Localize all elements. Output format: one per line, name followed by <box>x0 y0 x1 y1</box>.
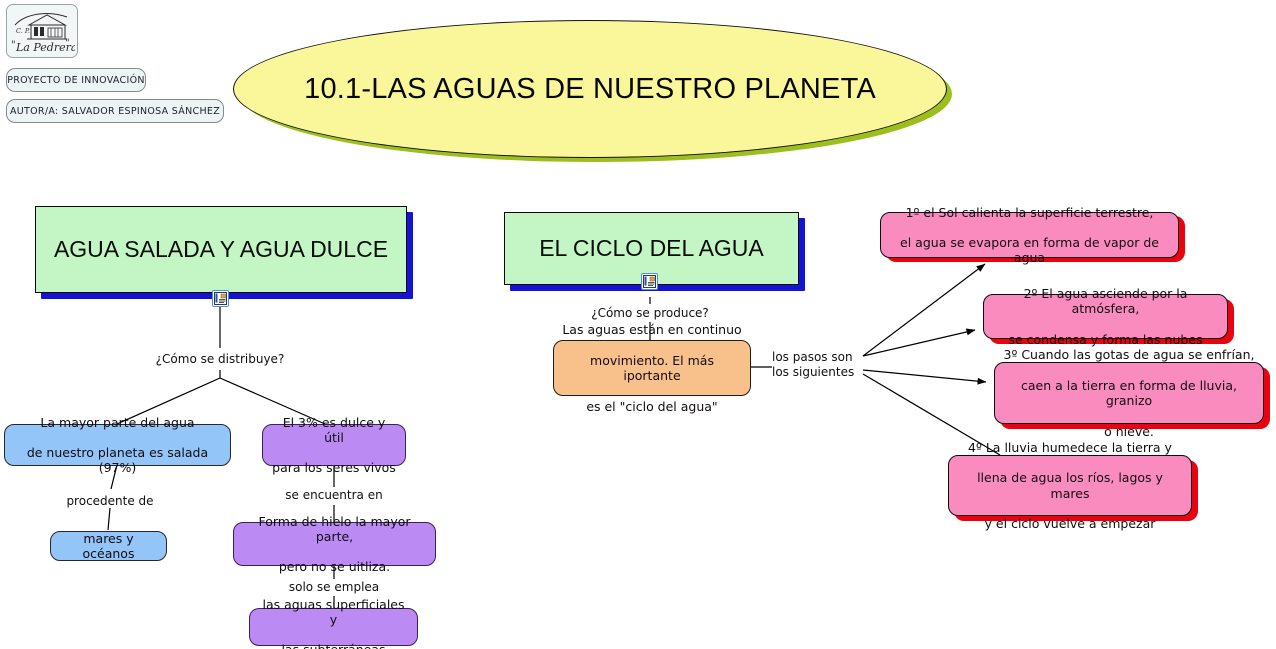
node-agua-salada-y-dulce-label: AGUA SALADA Y AGUA DULCE <box>54 235 388 263</box>
svg-text:": " <box>65 38 70 49</box>
logo-initials: C. P. <box>16 27 30 35</box>
node-paso-2[interactable]: 2º El agua asciende por la atmósfera,se … <box>983 294 1228 339</box>
node-paso-1-label: 1º el Sol calienta la superficie terrest… <box>889 205 1170 266</box>
node-paso-3[interactable]: 3º Cuando las gotas de agua se enfrían,c… <box>994 362 1264 424</box>
link-label-se-encuentra-en: se encuentra en <box>264 488 404 503</box>
badge-proyecto-innovacion: PROYECTO DE INNOVACIÓN <box>6 68 146 92</box>
node-mares-y-oceanos[interactable]: mares y océanos <box>50 531 167 561</box>
link-label-los-pasos-son: los pasos sonlos siguientes <box>772 350 864 380</box>
node-aguas-en-movimiento-label: Las aguas están en continuomovimiento. E… <box>562 322 742 414</box>
node-agua-salada-y-dulce[interactable]: AGUA SALADA Y AGUA DULCE <box>35 206 407 293</box>
node-mares-y-oceanos-label: mares y océanos <box>59 531 158 562</box>
link-label-como-se-distribuye: ¿Cómo se distribuye? <box>140 352 300 367</box>
school-logo: C. P. La Pedrera " " <box>6 4 78 58</box>
school-building-icon: C. P. La Pedrera " " <box>7 5 75 55</box>
node-ciclo-del-agua-heading-label: EL CICLO DEL AGUA <box>539 234 764 262</box>
badge-autor: AUTOR/A: SALVADOR ESPINOSA SÁNCHEZ <box>6 99 224 123</box>
note-document-icon-left[interactable] <box>212 290 229 307</box>
title-ellipse: 10.1-LAS AGUAS DE NUESTRO PLANETA <box>233 20 947 158</box>
concept-map-canvas: C. P. La Pedrera " " PROYECTO DE INNOVAC… <box>0 0 1276 649</box>
note-document-glyph <box>643 275 656 288</box>
note-document-glyph <box>214 292 227 305</box>
node-paso-1[interactable]: 1º el Sol calienta la superficie terrest… <box>880 212 1179 258</box>
svg-text:": " <box>11 40 16 51</box>
node-aguas-superficiales[interactable]: las aguas superficiales ylas subterránea… <box>249 608 418 646</box>
node-forma-de-hielo[interactable]: Forma de hielo la mayor parte,pero no se… <box>233 522 436 566</box>
node-forma-de-hielo-label: Forma de hielo la mayor parte,pero no se… <box>242 514 427 575</box>
link-label-solo-se-emplea: solo se emplea <box>264 580 404 595</box>
node-aguas-superficiales-label: las aguas superficiales ylas subterránea… <box>258 597 409 649</box>
node-paso-4[interactable]: 4º La lluvia humedece la tierra yllena d… <box>948 455 1192 516</box>
link-label-como-se-produce: ¿Cómo se produce? <box>570 306 730 321</box>
node-3-por-ciento-dulce[interactable]: El 3% es dulce y útilpara los seres vivo… <box>262 424 406 466</box>
page-title: 10.1-LAS AGUAS DE NUESTRO PLANETA <box>304 73 876 106</box>
node-paso-3-label: 3º Cuando las gotas de agua se enfrían,c… <box>1003 347 1255 439</box>
node-mayor-parte-salada-label: La mayor parte del aguade nuestro planet… <box>13 415 222 476</box>
node-3-por-ciento-dulce-label: El 3% es dulce y útilpara los seres vivo… <box>271 415 397 476</box>
node-paso-2-label: 2º El agua asciende por la atmósfera,se … <box>992 286 1219 347</box>
link-label-procedente-de: procedente de <box>40 494 180 509</box>
node-paso-4-label: 4º La lluvia humedece la tierra yllena d… <box>957 440 1183 532</box>
node-aguas-en-movimiento[interactable]: Las aguas están en continuomovimiento. E… <box>553 340 751 396</box>
note-document-icon-right[interactable] <box>641 273 658 290</box>
node-mayor-parte-salada[interactable]: La mayor parte del aguade nuestro planet… <box>4 424 231 466</box>
